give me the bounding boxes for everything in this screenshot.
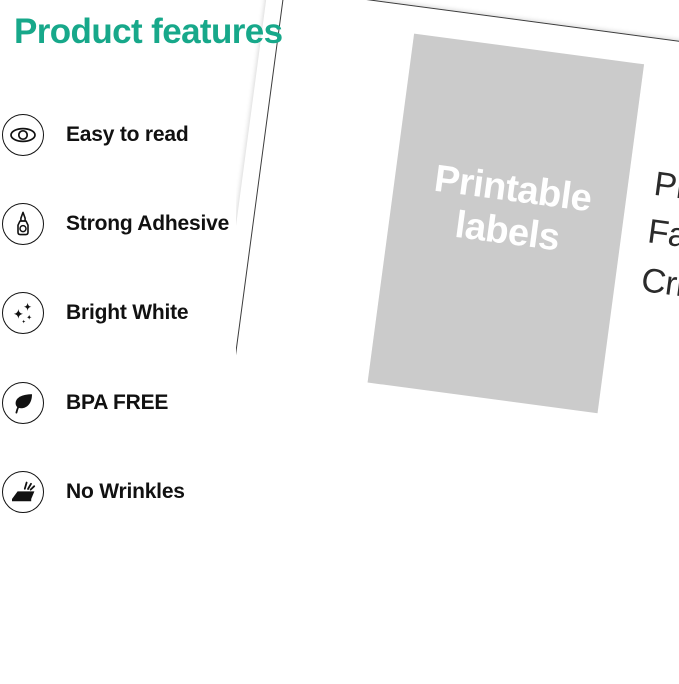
- feature-item-strong-adhesive: Strong Adhesive: [2, 202, 229, 246]
- product-feature-image: Printable labels Printabl Fast Crisp and…: [0, 0, 679, 684]
- sheet-printed-text: Printabl Fast Crisp and: [638, 160, 679, 347]
- feature-label: Easy to read: [66, 123, 189, 147]
- smooth-sheet-icon: [2, 471, 44, 513]
- product-features-panel: Product features Easy to read Strong Adh…: [0, 0, 340, 684]
- feature-label: BPA FREE: [66, 391, 168, 415]
- page-title: Product features: [14, 12, 283, 52]
- feature-label: Strong Adhesive: [66, 212, 229, 236]
- printable-labels-block: Printable labels: [368, 34, 645, 414]
- sparkles-icon: [2, 292, 44, 334]
- feature-label: No Wrinkles: [66, 480, 185, 504]
- glue-bottle-icon: [2, 203, 44, 245]
- feature-item-no-wrinkles: No Wrinkles: [2, 470, 185, 514]
- eye-icon: [2, 114, 44, 156]
- leaf-icon: [2, 382, 44, 424]
- sheet-text-line-3: Crisp and: [638, 256, 679, 347]
- printable-labels-title: Printable labels: [403, 155, 617, 266]
- feature-item-bpa-free: BPA FREE: [2, 381, 168, 425]
- feature-item-bright-white: Bright White: [2, 291, 188, 335]
- feature-item-easy-to-read: Easy to read: [2, 113, 189, 157]
- feature-label: Bright White: [66, 301, 188, 325]
